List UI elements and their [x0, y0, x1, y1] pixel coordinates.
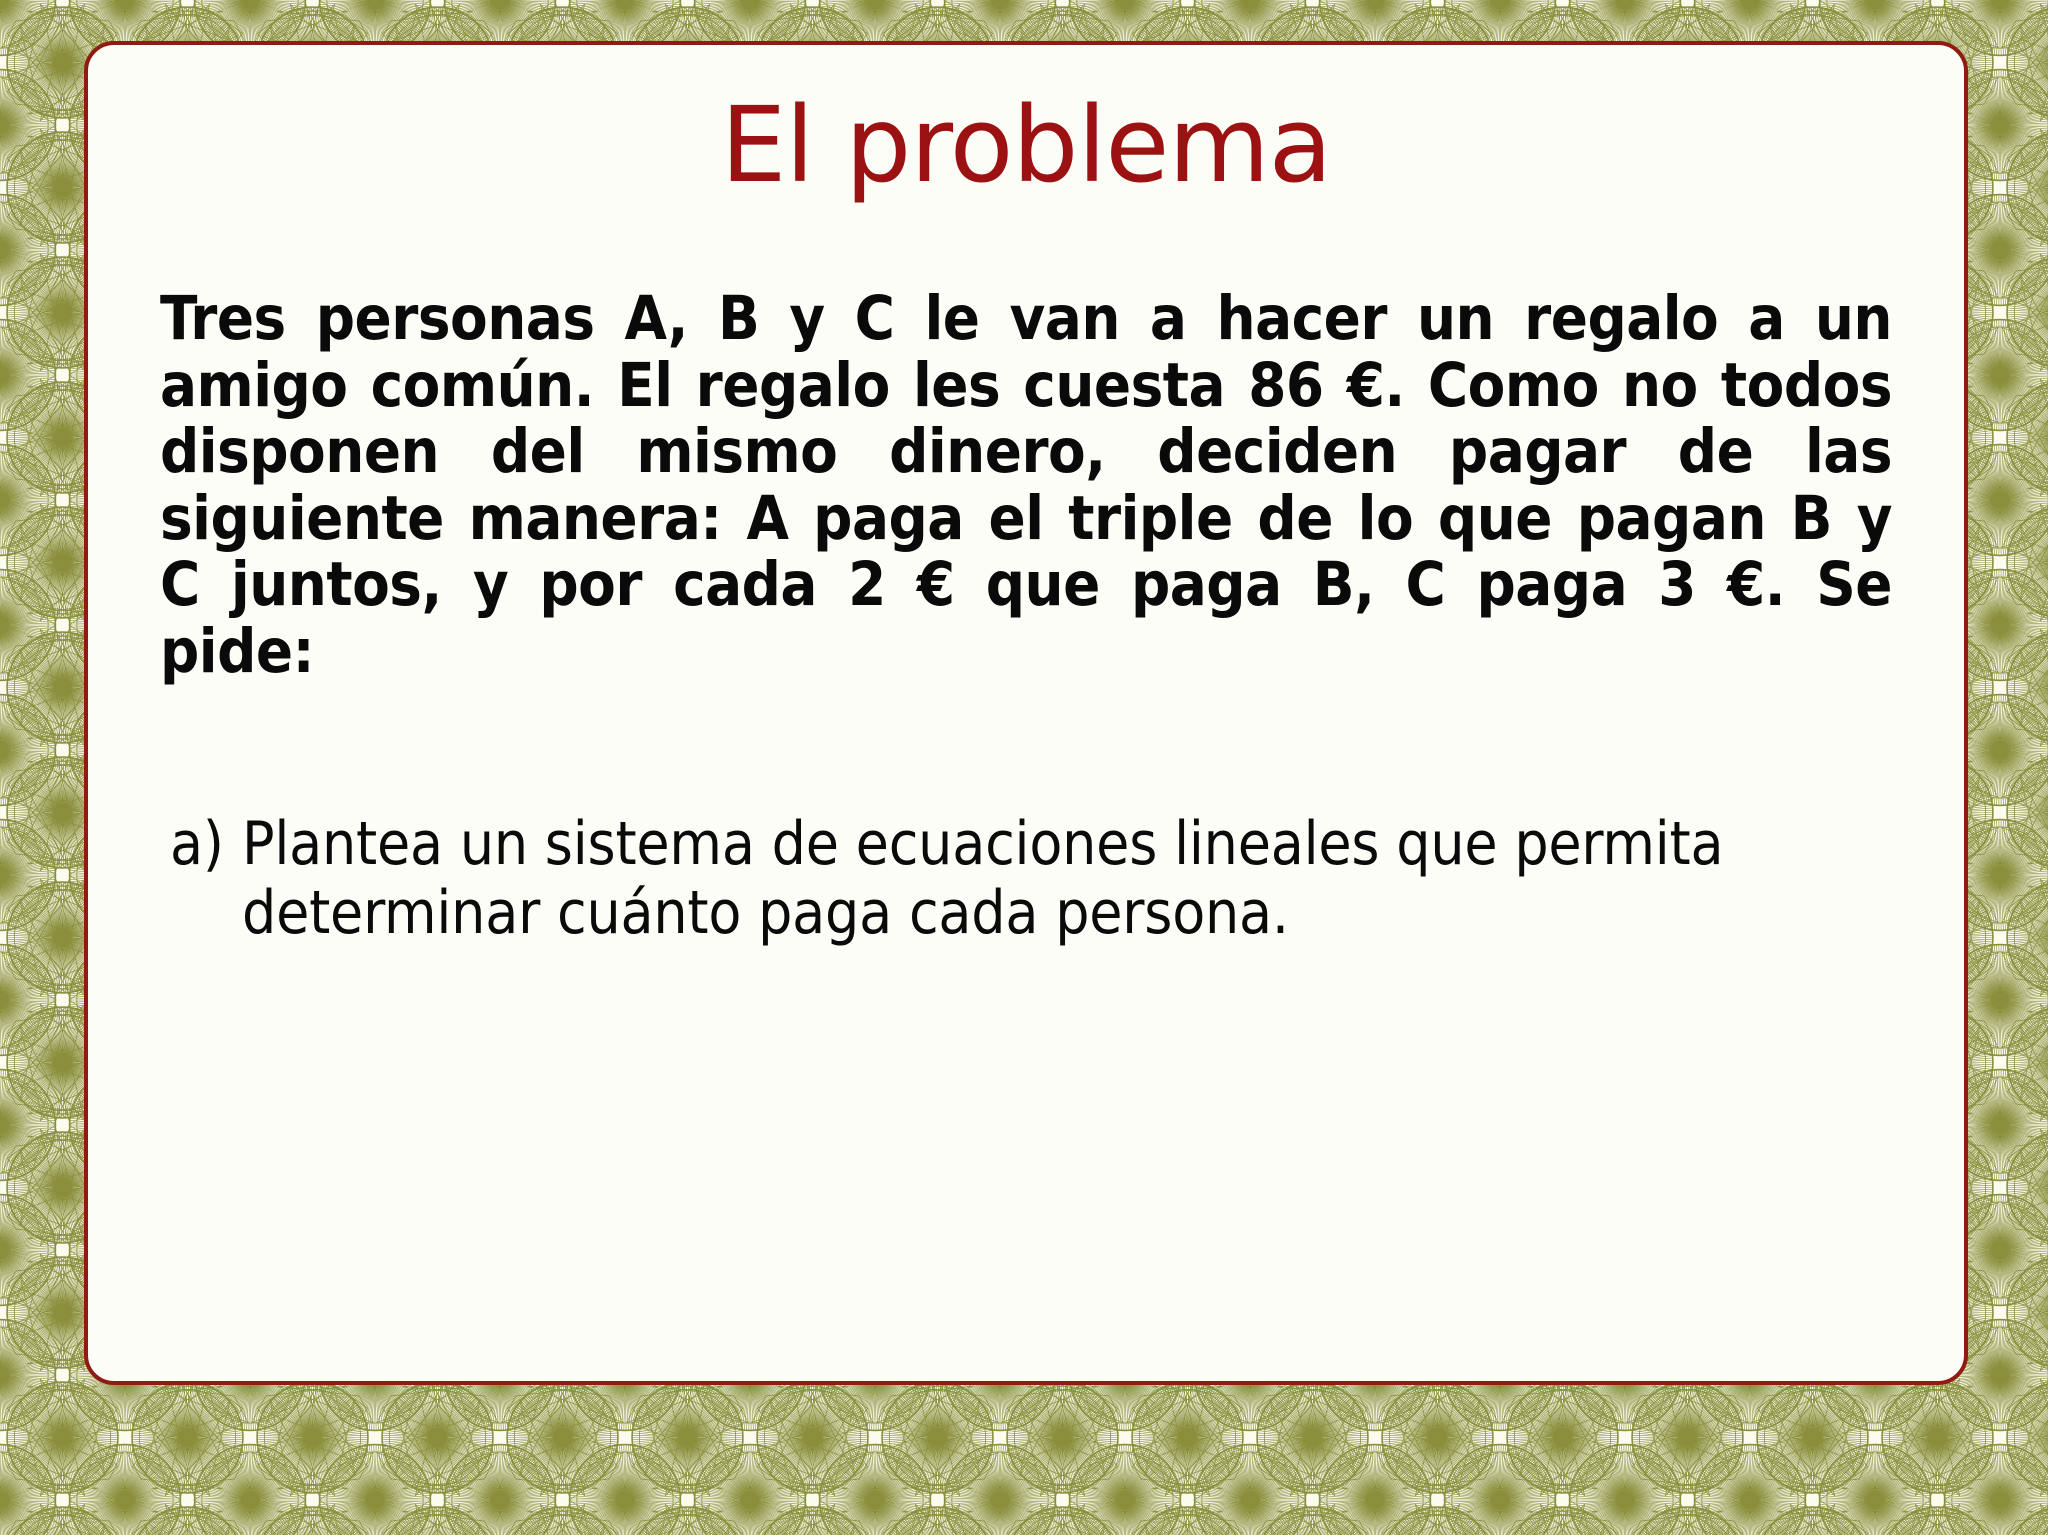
slide: El problema Tres personas A, B y C le va… — [0, 0, 2048, 1535]
content-panel: El problema Tres personas A, B y C le va… — [84, 41, 1968, 1385]
list-item: a) Plantea un sistema de ecuaciones line… — [170, 810, 1892, 949]
list-item-label: Plantea un sistema de ecuaciones lineale… — [242, 810, 1802, 949]
list-item-marker: a) — [170, 810, 242, 880]
page-title: El problema — [148, 45, 1904, 200]
problem-statement: Tres personas A, B y C le van a hacer un… — [148, 200, 1904, 751]
question-list: a) Plantea un sistema de ecuaciones line… — [148, 752, 1904, 949]
content-panel-inner: El problema Tres personas A, B y C le va… — [88, 45, 1964, 1381]
